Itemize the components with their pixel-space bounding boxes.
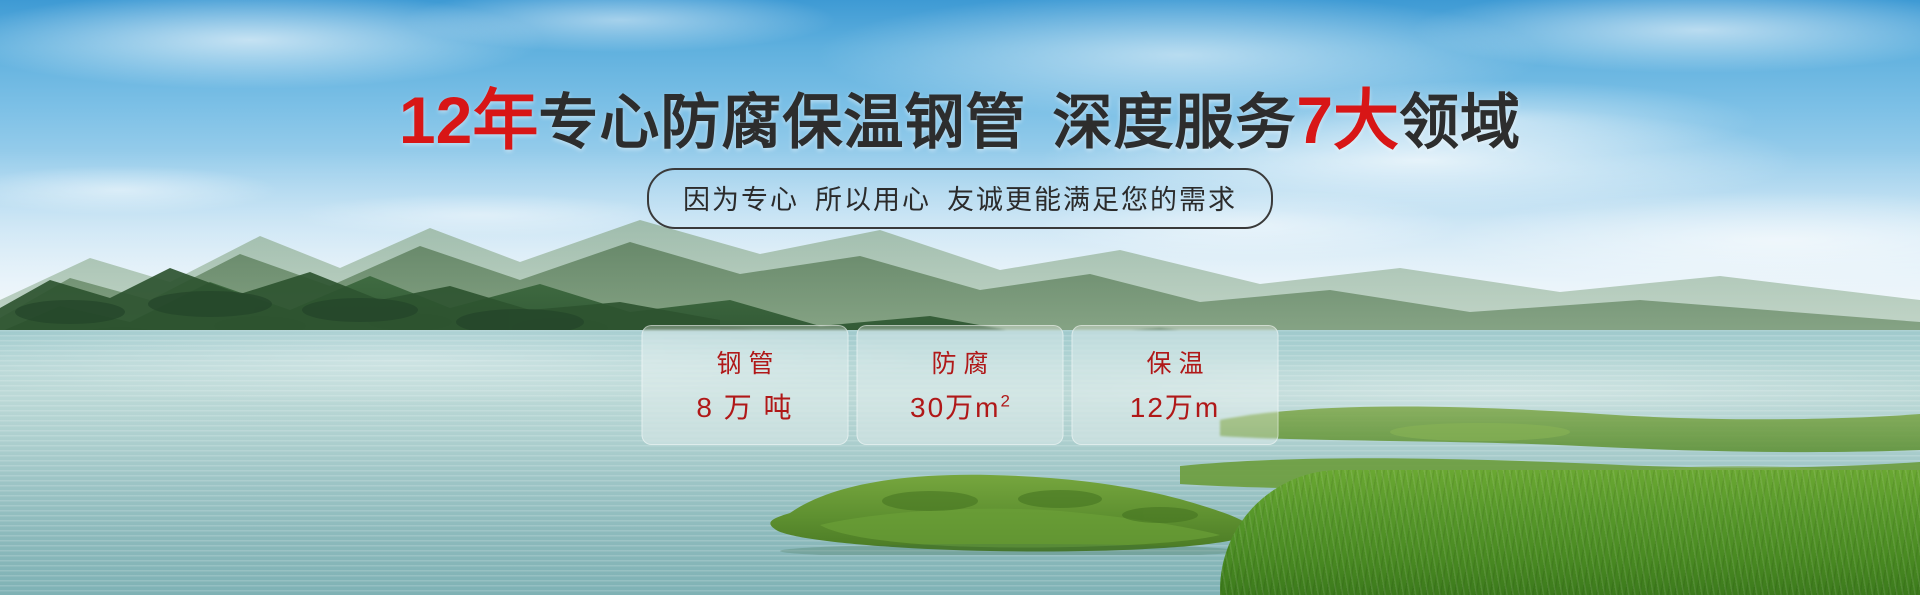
stat-card-title: 钢管 [709,344,780,380]
stat-card-steel-pipe: 钢管 8 万 吨 [642,325,849,445]
headline-service-text: 深度服务 [1052,89,1296,156]
banner-headline: 12年专心防腐保温钢管深度服务7大领域 [0,86,1920,155]
stat-value-text: 30万m [910,392,1000,423]
stat-card-value: 8 万 吨 [696,386,793,426]
hero-banner: 12年专心防腐保温钢管深度服务7大领域 因为专心所以用心友诚更能满足您的需求 钢… [0,0,1920,595]
stat-value-text: 8 万 吨 [696,392,793,423]
stat-value-superscript: 2 [1001,392,1010,411]
headline-main-text: 专心防腐保温钢管 [538,89,1026,156]
subtitle-pill: 因为专心所以用心友诚更能满足您的需求 [647,168,1273,229]
subtitle-phrase-1: 因为专心 [683,185,799,215]
headline-accent-years: 12年 [399,83,538,157]
stat-card-title: 保温 [1139,344,1210,380]
stat-card-insulation: 保温 12万m [1072,325,1279,445]
stat-card-anticorrosion: 防腐 30万m2 [857,325,1064,445]
headline-fields-text: 领域 [1399,89,1521,156]
subtitle-phrase-3: 友诚更能满足您的需求 [947,185,1237,215]
headline-accent-fields: 7大 [1296,83,1399,157]
stat-card-value: 30万m2 [910,386,1010,426]
stat-card-value: 12万m [1130,386,1220,426]
stat-card-title: 防腐 [924,344,995,380]
stat-value-text: 12万m [1130,392,1220,423]
subtitle-phrase-2: 所以用心 [815,185,931,215]
stat-card-group: 钢管 8 万 吨 防腐 30万m2 保温 12万m [642,325,1279,445]
banner-content: 12年专心防腐保温钢管深度服务7大领域 因为专心所以用心友诚更能满足您的需求 钢… [0,0,1920,595]
